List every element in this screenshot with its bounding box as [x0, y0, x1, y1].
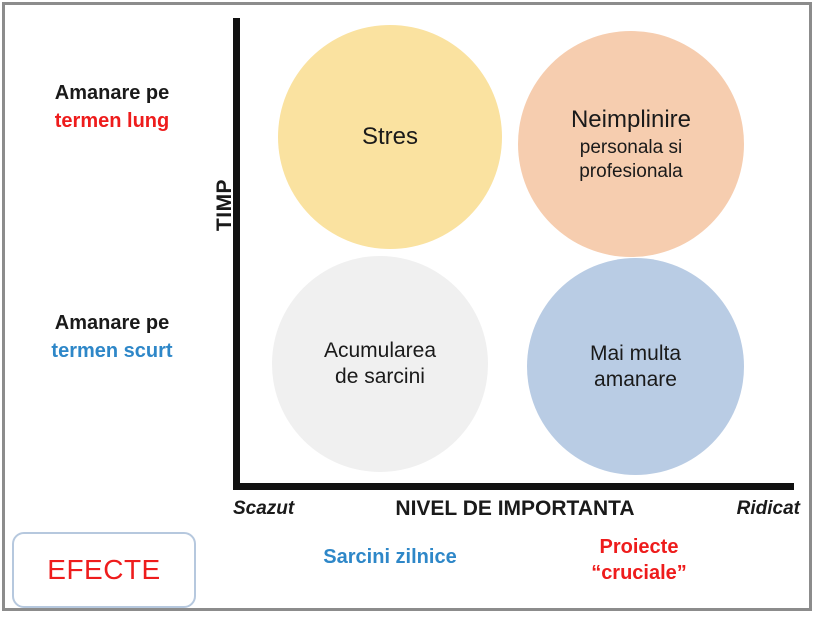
row-label-long-term-line2: termen lung [0, 108, 224, 136]
x-axis-label-low: Scazut [233, 498, 294, 520]
y-axis-title: TIMP [205, 150, 245, 260]
column-caption-crucial-projects: Proiecte “cruciale” [528, 534, 750, 586]
column-caption-crucial-projects-line2: “cruciale” [528, 560, 750, 586]
diagram-canvas: TIMP Amanare pe termen lung Amanare pe t… [0, 0, 820, 623]
bubble-acumularea-line1: Acumularea [324, 338, 436, 364]
x-axis-line [233, 483, 794, 490]
row-label-long-term: Amanare pe termen lung [0, 80, 224, 135]
bubble-neimplinire-subline2: profesionala [579, 160, 683, 183]
bubble-neimplinire: Neimplinire personala si profesionala [518, 31, 744, 257]
bubble-stres-label: Stres [362, 122, 418, 151]
bubble-mai-multa-amanare-line1: Mai multa [590, 341, 681, 367]
row-label-short-term: Amanare pe termen scurt [0, 310, 224, 365]
bubble-neimplinire-title: Neimplinire [571, 105, 691, 134]
bubble-mai-multa-amanare: Mai multa amanare [527, 258, 744, 475]
bubble-acumularea-line2: de sarcini [335, 364, 425, 390]
bubble-neimplinire-subline1: personala si [580, 136, 682, 159]
column-caption-crucial-projects-line1: Proiecte [528, 534, 750, 560]
bubble-acumularea: Acumularea de sarcini [272, 256, 488, 472]
column-caption-daily-tasks: Sarcini zilnice [280, 544, 500, 570]
row-label-short-term-line1: Amanare pe [0, 310, 224, 338]
bubble-stres: Stres [278, 25, 502, 249]
x-axis-label-high: Ridicat [737, 498, 800, 520]
efecte-legend-box: EFECTE [12, 532, 196, 608]
bubble-mai-multa-amanare-line2: amanare [594, 367, 677, 393]
row-label-short-term-line2: termen scurt [0, 338, 224, 366]
efecte-label: EFECTE [47, 554, 160, 586]
row-label-long-term-line1: Amanare pe [0, 80, 224, 108]
x-axis-title: NIVEL DE IMPORTANTA [335, 497, 695, 521]
column-caption-daily-tasks-line1: Sarcini zilnice [280, 544, 500, 570]
